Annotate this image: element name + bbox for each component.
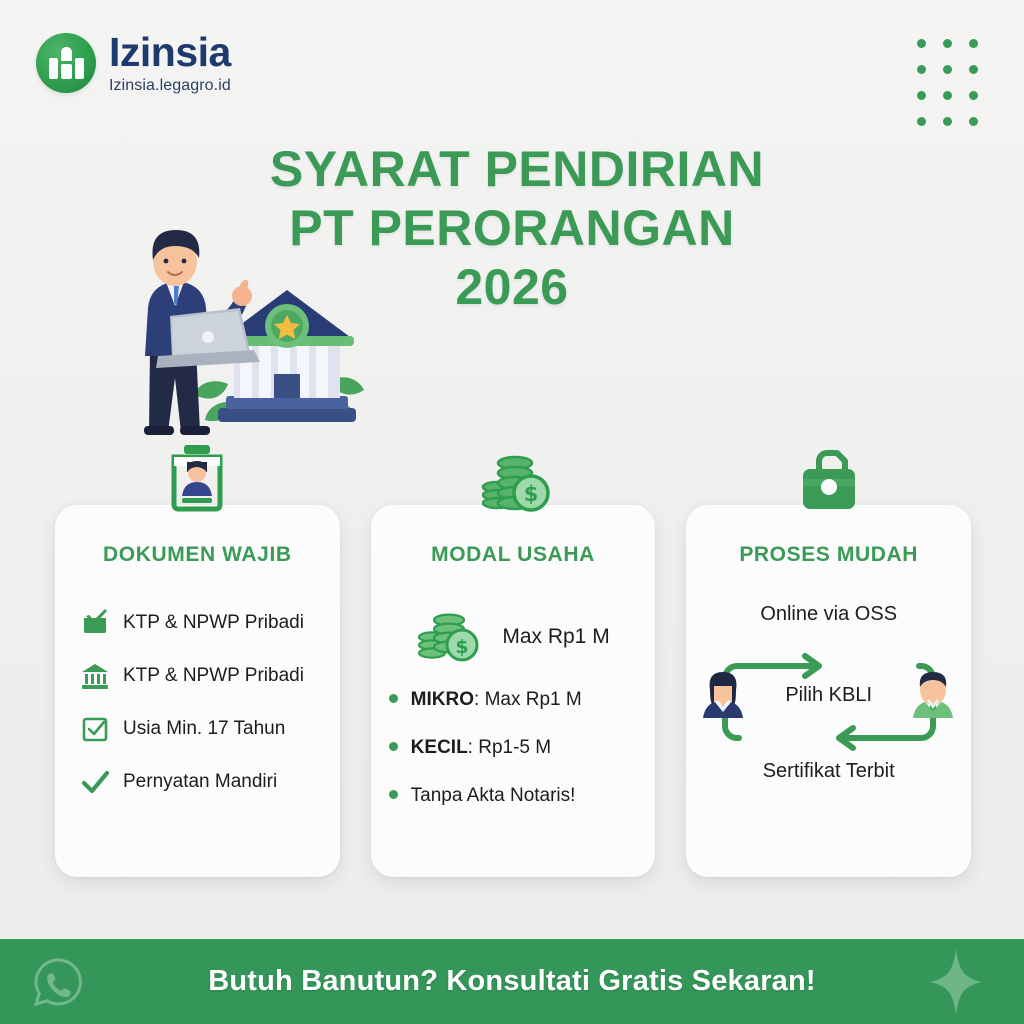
coins-dollar-icon: $ bbox=[416, 607, 490, 667]
process-step-top: Online via OSS bbox=[686, 603, 971, 626]
brand-website: Izinsia.legagro.id bbox=[109, 78, 231, 94]
check-box-filled-icon bbox=[81, 609, 109, 637]
card-proses-mudah[interactable]: PROSES MUDAH Online via OSS bbox=[686, 505, 971, 877]
list-item-label: Pernyatan Mandiri bbox=[123, 771, 277, 793]
list-item-label: Usia Min. 17 Tahun bbox=[123, 718, 285, 740]
svg-text:$: $ bbox=[524, 482, 539, 506]
capital-highlight: $ Max Rp1 M bbox=[371, 607, 656, 667]
bullet-dot-icon bbox=[389, 742, 398, 751]
list-item-label: KTP & NPWP Pribadi bbox=[123, 665, 304, 687]
sparkle-star-icon bbox=[928, 947, 984, 1017]
bullet-value: Rp1-5 M bbox=[478, 737, 551, 758]
coins-stack-icon: $ bbox=[473, 443, 553, 521]
check-box-outline-icon bbox=[81, 715, 109, 743]
svg-text:$: $ bbox=[456, 636, 469, 658]
whatsapp-icon bbox=[30, 954, 86, 1010]
footer-cta-banner[interactable]: Butuh Banutun? Konsultati Gratis Sekaran… bbox=[0, 939, 1024, 1024]
dot-grid-icon bbox=[908, 30, 986, 134]
bullet-value: Max Rp1 M bbox=[485, 689, 582, 710]
list-item: KTP & NPWP Pribadi bbox=[81, 609, 340, 637]
list-item: KECIL: Rp1-5 M bbox=[389, 737, 656, 759]
card-dokumen-wajib[interactable]: DOKUMEN WAJIB KTP & NPWP Pribadi bbox=[55, 505, 340, 877]
requirements-list: KTP & NPWP Pribadi KTP & NPWP Pri bbox=[81, 609, 340, 796]
izinsia-building-logo-icon bbox=[36, 33, 96, 93]
list-item: KTP & NPWP Pribadi bbox=[81, 662, 340, 690]
bullet-label: MIKRO bbox=[411, 689, 474, 710]
bullet-value: Tanpa Akta Notaris! bbox=[411, 785, 576, 806]
list-item: Pernyatan Mandiri bbox=[81, 768, 340, 796]
bullet-separator: : bbox=[468, 737, 479, 758]
cards-row: DOKUMEN WAJIB KTP & NPWP Pribadi bbox=[55, 505, 971, 877]
card-title: DOKUMEN WAJIB bbox=[55, 543, 340, 567]
footer-cta-text: Butuh Banutun? Konsultati Gratis Sekaran… bbox=[208, 965, 816, 998]
card-title: MODAL USAHA bbox=[371, 543, 656, 567]
bullet-separator: : bbox=[474, 689, 485, 710]
process-flow: Online via OSS bbox=[686, 603, 971, 783]
card-title: PROSES MUDAH bbox=[686, 543, 971, 567]
briefcase-icon bbox=[789, 443, 869, 521]
brand-name: Izinsia bbox=[109, 32, 231, 73]
bullet-dot-icon bbox=[389, 790, 398, 799]
bank-building-icon bbox=[81, 662, 109, 690]
bullet-dot-icon bbox=[389, 694, 398, 703]
businessman-with-laptop-and-government-building-illustration bbox=[108, 216, 368, 436]
list-item: Tanpa Akta Notaris! bbox=[389, 785, 656, 807]
bullet-label: KECIL bbox=[411, 737, 468, 758]
list-item: MIKRO: Max Rp1 M bbox=[389, 689, 656, 711]
title-line-1: SYARAT PENDIRIAN bbox=[0, 140, 1024, 199]
brand-logo[interactable]: Izinsia Izinsia.legagro.id bbox=[36, 32, 231, 94]
list-item-label: KTP & NPWP Pribadi bbox=[123, 612, 304, 634]
cycle-arrows-icon: Pilih KBLI bbox=[686, 636, 971, 754]
capital-highlight-label: Max Rp1 M bbox=[502, 625, 609, 649]
check-mark-icon bbox=[81, 768, 109, 796]
process-step-middle: Pilih KBLI bbox=[686, 684, 971, 707]
id-badge-icon bbox=[157, 443, 237, 521]
infographic-canvas: Izinsia Izinsia.legagro.id SYARAT PENDIR… bbox=[0, 0, 1024, 1024]
list-item: Usia Min. 17 Tahun bbox=[81, 715, 340, 743]
card-modal-usaha[interactable]: $ MODAL USAHA $ bbox=[371, 505, 656, 877]
process-step-bottom: Sertifikat Terbit bbox=[686, 760, 971, 783]
capital-bullets: MIKRO: Max Rp1 M KECIL: Rp1-5 M Tanpa Ak… bbox=[389, 689, 656, 807]
